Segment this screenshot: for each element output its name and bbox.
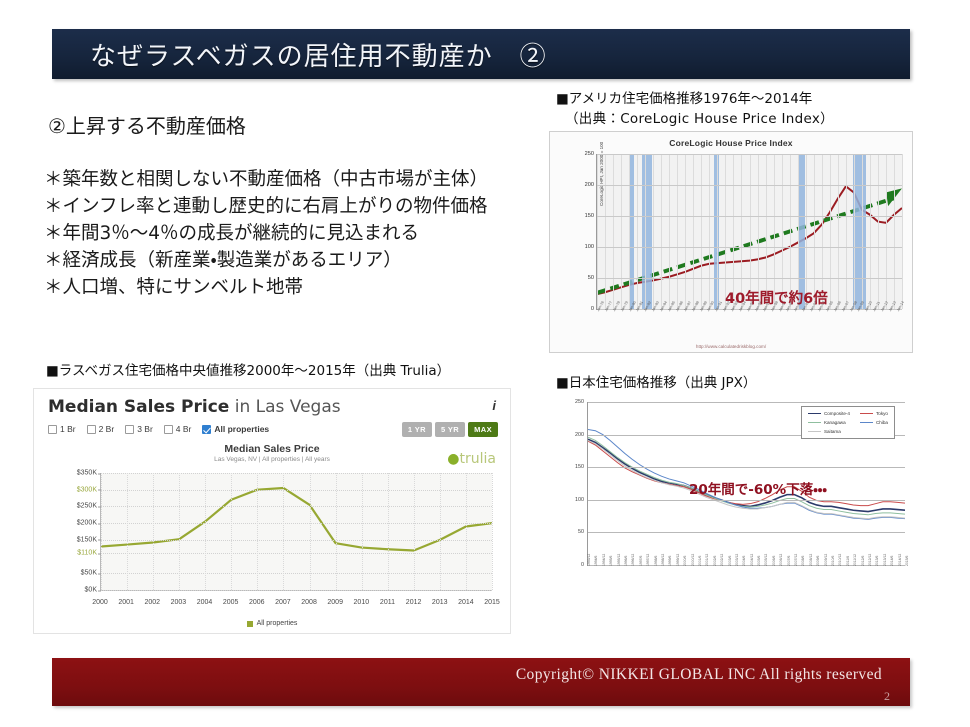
bullet-item: ＊人口増、特にサンベルト地帯 bbox=[44, 274, 544, 301]
copyright-text: Copyright© NIKKEI GLOBAL INC All rights … bbox=[516, 666, 882, 684]
legend-item: Composite-4 bbox=[808, 411, 850, 416]
legend-label: Kanagawa bbox=[824, 420, 846, 425]
x-axis-tick: 2014/6 bbox=[890, 556, 894, 566]
grid-line-horizontal bbox=[101, 523, 492, 524]
grid-line-vertical bbox=[725, 154, 726, 309]
grid-line-vertical bbox=[685, 154, 686, 309]
grid-line-vertical bbox=[846, 154, 847, 309]
legend-line-icon bbox=[808, 422, 821, 424]
x-axis-tick: 2000 bbox=[92, 599, 108, 606]
grid-line-vertical bbox=[902, 154, 903, 309]
caption-us-chart: ■アメリカ住宅価格推移1976年〜2014年 （出典：CoreLogic Hou… bbox=[556, 90, 834, 129]
grid-line-vertical bbox=[814, 154, 815, 309]
grid-line-vertical bbox=[388, 473, 389, 590]
us-corelogic-chart: CoreLogic House Price Index CoreLogic HP… bbox=[549, 131, 913, 353]
checkbox-4br[interactable]: 4 Br bbox=[164, 424, 192, 434]
x-axis-tick: 2008/12 bbox=[809, 554, 813, 566]
info-icon[interactable]: i bbox=[492, 398, 496, 413]
checkbox-box-icon[interactable] bbox=[48, 425, 57, 434]
grid-line-horizontal bbox=[101, 590, 492, 591]
lv-legend: All properties bbox=[34, 620, 510, 627]
lv-filter-group: 1 Br 2 Br 3 Br 4 Br All properties bbox=[48, 424, 269, 434]
x-axis-tick: 1994/6 bbox=[594, 556, 598, 566]
jp-series-line-kanagawa bbox=[588, 437, 905, 515]
trulia-median-price-widget: Median Sales Price in Las Vegas i 1 Br 2… bbox=[33, 388, 511, 634]
y-axis-tick: 0 bbox=[591, 306, 594, 312]
grid-line-vertical bbox=[878, 154, 879, 309]
legend-line-icon bbox=[808, 431, 821, 433]
lv-x-axis-labels: 2000200120022003200420052006200720082009… bbox=[100, 595, 492, 609]
x-axis-tick: 2007/6 bbox=[787, 556, 791, 566]
x-axis-tick: 1998/12 bbox=[661, 554, 665, 566]
x-axis-tick: 2004 bbox=[197, 599, 213, 606]
x-axis-tick: 1996/6 bbox=[624, 556, 628, 566]
x-axis-tick: 2011/6 bbox=[846, 556, 850, 566]
x-axis-tick: 2002/6 bbox=[713, 556, 717, 566]
page-number: 2 bbox=[884, 689, 890, 704]
x-axis-tick: 2005/12 bbox=[764, 554, 768, 566]
grid-line-horizontal bbox=[588, 532, 905, 533]
x-axis-tick: 2008/6 bbox=[801, 556, 805, 566]
y-axis-tick: 0 bbox=[581, 562, 584, 568]
page-title: なぜラスベガスの居住用不動産か ② bbox=[52, 36, 547, 73]
x-axis-tick: 2006 bbox=[249, 599, 265, 606]
legend-item: Kanagawa bbox=[808, 420, 850, 425]
grid-line-vertical bbox=[733, 154, 734, 309]
y-axis-tick: $250K bbox=[77, 503, 97, 510]
jp-annotation-text: 20年間で-60%下落・・・ bbox=[689, 478, 827, 498]
x-axis-tick: 2010/12 bbox=[838, 554, 842, 566]
recession-band bbox=[642, 154, 652, 309]
grid-line-vertical bbox=[127, 473, 128, 590]
bullet-item: ＊経済成長（新産業・製造業があるエリア） bbox=[44, 247, 544, 274]
grid-line-vertical bbox=[822, 154, 823, 309]
trulia-logo: ●trulia bbox=[447, 451, 496, 467]
us-chart-canvas: CoreLogic House Price Index CoreLogic HP… bbox=[550, 132, 912, 352]
us-x-axis-labels: Jan-76Jan-77Jan-78Jan-79Jan-80Jan-81Jan-… bbox=[596, 310, 902, 336]
x-axis-tick: 2005/6 bbox=[757, 556, 761, 566]
slide-title-bar: なぜラスベガスの居住用不動産か ② bbox=[52, 29, 910, 79]
legend-item: Saitama bbox=[808, 429, 850, 434]
slide-footer-bar: Copyright© NIKKEI GLOBAL INC All rights … bbox=[52, 658, 910, 706]
x-axis-tick: 2003/6 bbox=[728, 556, 732, 566]
legend-label: Saitama bbox=[824, 429, 841, 434]
y-axis-tick: 100 bbox=[575, 497, 584, 503]
grid-line-vertical bbox=[677, 154, 678, 309]
x-axis-tick: 1995/6 bbox=[609, 556, 613, 566]
grid-line-horizontal bbox=[597, 216, 902, 217]
x-axis-tick: 2001/6 bbox=[698, 556, 702, 566]
checkbox-checked-icon[interactable] bbox=[202, 425, 211, 434]
grid-line-vertical bbox=[310, 473, 311, 590]
recession-band bbox=[853, 154, 866, 309]
x-axis-tick: 1999/6 bbox=[668, 556, 672, 566]
legend-label: Chiba bbox=[876, 420, 888, 425]
caption-japan-chart: ■日本住宅価格推移（出典 JPX） bbox=[556, 374, 756, 394]
grid-line-vertical bbox=[766, 154, 767, 309]
y-axis-tick: 250 bbox=[575, 399, 584, 405]
grid-line-vertical bbox=[894, 154, 895, 309]
legend-line-icon bbox=[860, 413, 873, 415]
x-axis-tick: 2013 bbox=[432, 599, 448, 606]
lv-plot-area: $350K$300K$250K$200K$150K$110K$50K$0K bbox=[100, 473, 492, 591]
x-axis-tick: 1997/6 bbox=[639, 556, 643, 566]
x-axis-tick: 2014/12 bbox=[898, 554, 902, 566]
grid-line-horizontal bbox=[101, 473, 492, 474]
grid-line-horizontal bbox=[588, 467, 905, 468]
grid-line-vertical bbox=[621, 154, 622, 309]
grid-line-vertical bbox=[257, 473, 258, 590]
grid-line-vertical bbox=[637, 154, 638, 309]
grid-line-vertical bbox=[613, 154, 614, 309]
legend-item: Tokyo bbox=[860, 411, 888, 416]
grid-line-vertical bbox=[231, 473, 232, 590]
caption-us-line1: ■アメリカ住宅価格推移1976年〜2014年 bbox=[556, 90, 834, 110]
lv-median-price-line bbox=[101, 488, 492, 550]
x-axis-tick: 2010 bbox=[354, 599, 370, 606]
y-axis-tick: $50K bbox=[81, 570, 97, 577]
grid-line-horizontal bbox=[597, 154, 902, 155]
grid-line-vertical bbox=[101, 473, 102, 590]
grid-line-vertical bbox=[414, 473, 415, 590]
grid-line-vertical bbox=[854, 154, 855, 309]
grid-line-vertical bbox=[750, 154, 751, 309]
grid-line-vertical bbox=[653, 154, 654, 309]
x-axis-tick: 2009 bbox=[327, 599, 343, 606]
grid-line-horizontal bbox=[597, 185, 902, 186]
x-axis-tick: 2009/12 bbox=[824, 554, 828, 566]
checkbox-label: 1 Br bbox=[60, 424, 76, 434]
x-axis-tick: 2011/12 bbox=[853, 554, 857, 566]
grid-line-vertical bbox=[629, 154, 630, 309]
x-axis-tick: 2013/6 bbox=[875, 556, 879, 566]
x-axis-tick: 2013/12 bbox=[883, 554, 887, 566]
lv-range-button-group: 1 YR 5 YR MAX bbox=[402, 422, 498, 437]
x-axis-tick: 2002/12 bbox=[720, 554, 724, 566]
x-axis-tick: 2005 bbox=[223, 599, 239, 606]
section-heading: ②上昇する不動産価格 bbox=[48, 110, 246, 139]
x-axis-tick: 1999/12 bbox=[676, 554, 680, 566]
grid-line-vertical bbox=[597, 154, 598, 309]
lv-subtitle-line1: Median Sales Price bbox=[34, 443, 510, 455]
checkbox-box-icon[interactable] bbox=[125, 425, 134, 434]
lv-widget-header: Median Sales Price in Las Vegas bbox=[48, 397, 341, 417]
grid-line-vertical bbox=[492, 473, 493, 590]
x-axis-tick: 2009/6 bbox=[816, 556, 820, 566]
caption-lasvegas-chart: ■ラスベガス住宅価格中央値推移2000年〜2015年（出典 Trulia） bbox=[46, 362, 450, 382]
jpx-japan-chart: 050100150200250 Composite-4TokyoKanagawa… bbox=[549, 392, 913, 634]
x-axis-tick: 2012/12 bbox=[868, 554, 872, 566]
grid-line-vertical bbox=[830, 154, 831, 309]
us-annotation-text: 40年間で約6倍 bbox=[725, 287, 828, 308]
y-axis-tick: 200 bbox=[575, 432, 584, 438]
checkbox-box-icon[interactable] bbox=[87, 425, 96, 434]
range-button-1yr[interactable]: 1 YR bbox=[402, 422, 432, 437]
trulia-wordmark: trulia bbox=[460, 451, 496, 467]
x-axis-tick: 2012/6 bbox=[861, 556, 865, 566]
x-axis-tick: 1996/12 bbox=[631, 554, 635, 566]
y-axis-tick: $0K bbox=[85, 587, 97, 594]
lv-header-bold: Median Sales Price bbox=[48, 397, 229, 417]
range-button-max[interactable]: MAX bbox=[468, 422, 498, 437]
x-axis-tick: 2004/6 bbox=[742, 556, 746, 566]
grid-line-vertical bbox=[153, 473, 154, 590]
legend-item: Chiba bbox=[860, 420, 888, 425]
y-axis-tick: 150 bbox=[575, 464, 584, 470]
grid-line-horizontal bbox=[101, 573, 492, 574]
y-axis-tick: 50 bbox=[588, 275, 594, 281]
x-axis-tick: 2011 bbox=[380, 599, 395, 606]
x-axis-tick: 2012 bbox=[406, 599, 422, 606]
grid-line-vertical bbox=[870, 154, 871, 309]
y-axis-tick: $200K bbox=[77, 520, 97, 527]
grid-line-vertical bbox=[205, 473, 206, 590]
caption-us-line2: （出典：CoreLogic House Price Index） bbox=[556, 110, 834, 130]
checkbox-3br[interactable]: 3 Br bbox=[125, 424, 153, 434]
legend-swatch-icon bbox=[247, 621, 253, 627]
grid-line-vertical bbox=[661, 154, 662, 309]
grid-line-vertical bbox=[336, 473, 337, 590]
x-axis-tick: 2006/6 bbox=[772, 556, 776, 566]
grid-line-vertical bbox=[838, 154, 839, 309]
checkbox-all-properties[interactable]: All properties bbox=[202, 424, 269, 434]
checkbox-2br[interactable]: 2 Br bbox=[87, 424, 115, 434]
x-axis-tick: 2001 bbox=[118, 599, 134, 606]
x-axis-tick: 1995/12 bbox=[617, 554, 621, 566]
grid-line-vertical bbox=[466, 473, 467, 590]
x-axis-tick: 2015 bbox=[484, 599, 500, 606]
x-axis-tick: 2001/12 bbox=[705, 554, 709, 566]
x-axis-tick: 1998/6 bbox=[654, 556, 658, 566]
grid-line-vertical bbox=[362, 473, 363, 590]
grid-line-horizontal bbox=[101, 490, 492, 491]
grid-line-vertical bbox=[741, 154, 742, 309]
checkbox-label: 3 Br bbox=[137, 424, 153, 434]
grid-line-horizontal bbox=[597, 278, 902, 279]
y-axis-tick: $350K bbox=[77, 470, 97, 477]
x-axis-tick: 1993/12 bbox=[587, 554, 591, 566]
x-axis-tick: 2007 bbox=[275, 599, 291, 606]
grid-line-vertical bbox=[605, 154, 606, 309]
checkbox-box-icon[interactable] bbox=[164, 425, 173, 434]
grid-line-vertical bbox=[886, 154, 887, 309]
lv-chart-subtitle: Median Sales Price Las Vegas, NV | All p… bbox=[34, 443, 510, 463]
grid-line-vertical bbox=[693, 154, 694, 309]
x-axis-tick: 2000/12 bbox=[691, 554, 695, 566]
lv-header-light: in Las Vegas bbox=[229, 397, 340, 417]
us-chart-title: CoreLogic House Price Index bbox=[550, 138, 912, 148]
y-axis-tick: 50 bbox=[578, 529, 584, 535]
bullet-list: ＊築年数と相関しない不動産価格（中古市場が主体） ＊インフレ率と連動し歴史的に右… bbox=[44, 166, 544, 301]
checkbox-label: 4 Br bbox=[176, 424, 192, 434]
grid-line-horizontal bbox=[588, 402, 905, 403]
us-source-url: http://www.calculatedriskblog.com/ bbox=[550, 344, 912, 349]
y-axis-tick: 250 bbox=[585, 151, 594, 157]
grid-line-vertical bbox=[283, 473, 284, 590]
y-axis-tick: 200 bbox=[585, 182, 594, 188]
grid-line-vertical bbox=[806, 154, 807, 309]
recession-band bbox=[799, 154, 805, 309]
grid-line-horizontal bbox=[588, 500, 905, 501]
x-axis-tick: 2015/6 bbox=[905, 556, 909, 566]
grid-line-vertical bbox=[440, 473, 441, 590]
x-axis-tick: 1994/12 bbox=[602, 554, 606, 566]
legend-label: Composite-4 bbox=[824, 411, 850, 416]
grid-line-vertical bbox=[669, 154, 670, 309]
legend-line-icon bbox=[808, 413, 821, 415]
checkbox-1br[interactable]: 1 Br bbox=[48, 424, 76, 434]
grid-line-horizontal bbox=[101, 506, 492, 507]
grid-line-horizontal bbox=[101, 553, 492, 554]
location-pin-icon: ● bbox=[447, 451, 459, 467]
slide-root: なぜラスベガスの居住用不動産か ② ②上昇する不動産価格 ＊築年数と相関しない不… bbox=[0, 0, 970, 727]
x-axis-tick: 2007/12 bbox=[794, 554, 798, 566]
y-axis-tick: $150K bbox=[77, 536, 97, 543]
jp-legend: Composite-4TokyoKanagawaChibaSaitama bbox=[801, 406, 895, 439]
x-axis-tick: 1997/12 bbox=[646, 554, 650, 566]
grid-line-vertical bbox=[862, 154, 863, 309]
grid-line-vertical bbox=[798, 154, 799, 309]
jp-x-axis-labels: 1993/121994/61994/121995/61995/121996/61… bbox=[587, 566, 905, 630]
range-button-5yr[interactable]: 5 YR bbox=[435, 422, 465, 437]
checkbox-label: All properties bbox=[214, 424, 269, 434]
grid-line-vertical bbox=[790, 154, 791, 309]
y-axis-tick: $110K bbox=[77, 550, 97, 557]
bullet-item: ＊インフレ率と連動し歴史的に右肩上がりの物件価格 bbox=[44, 193, 544, 220]
grid-line-vertical bbox=[645, 154, 646, 309]
grid-line-vertical bbox=[774, 154, 775, 309]
grid-line-vertical bbox=[709, 154, 710, 309]
x-axis-tick: 2010/6 bbox=[831, 556, 835, 566]
x-axis-tick: 2014 bbox=[458, 599, 474, 606]
x-axis-tick: 2003 bbox=[171, 599, 187, 606]
grid-line-vertical bbox=[179, 473, 180, 590]
x-axis-tick: 2008 bbox=[301, 599, 317, 606]
x-axis-tick: 2000/6 bbox=[683, 556, 687, 566]
legend-label: Tokyo bbox=[876, 411, 888, 416]
lv-subtitle-line2: Las Vegas, NV | All properties | All yea… bbox=[34, 456, 510, 463]
grid-line-vertical bbox=[701, 154, 702, 309]
y-axis-tick: $300K bbox=[77, 486, 97, 493]
legend-label: All properties bbox=[257, 620, 298, 627]
x-axis-tick: 2006/12 bbox=[779, 554, 783, 566]
grid-line-vertical bbox=[758, 154, 759, 309]
bullet-item: ＊築年数と相関しない不動産価格（中古市場が主体） bbox=[44, 166, 544, 193]
grid-line-horizontal bbox=[101, 540, 492, 541]
bullet-item: ＊年間3％〜4％の成長が継続的に見込まれる bbox=[44, 220, 544, 247]
x-axis-tick: 2002 bbox=[144, 599, 160, 606]
grid-line-vertical bbox=[717, 154, 718, 309]
checkbox-label: 2 Br bbox=[99, 424, 115, 434]
y-axis-tick: 100 bbox=[585, 244, 594, 250]
grid-line-vertical bbox=[782, 154, 783, 309]
x-axis-tick: 2004/12 bbox=[750, 554, 754, 566]
grid-line-horizontal bbox=[597, 247, 902, 248]
x-axis-tick: 2003/12 bbox=[735, 554, 739, 566]
y-axis-tick: 150 bbox=[585, 213, 594, 219]
legend-line-icon bbox=[860, 422, 873, 424]
